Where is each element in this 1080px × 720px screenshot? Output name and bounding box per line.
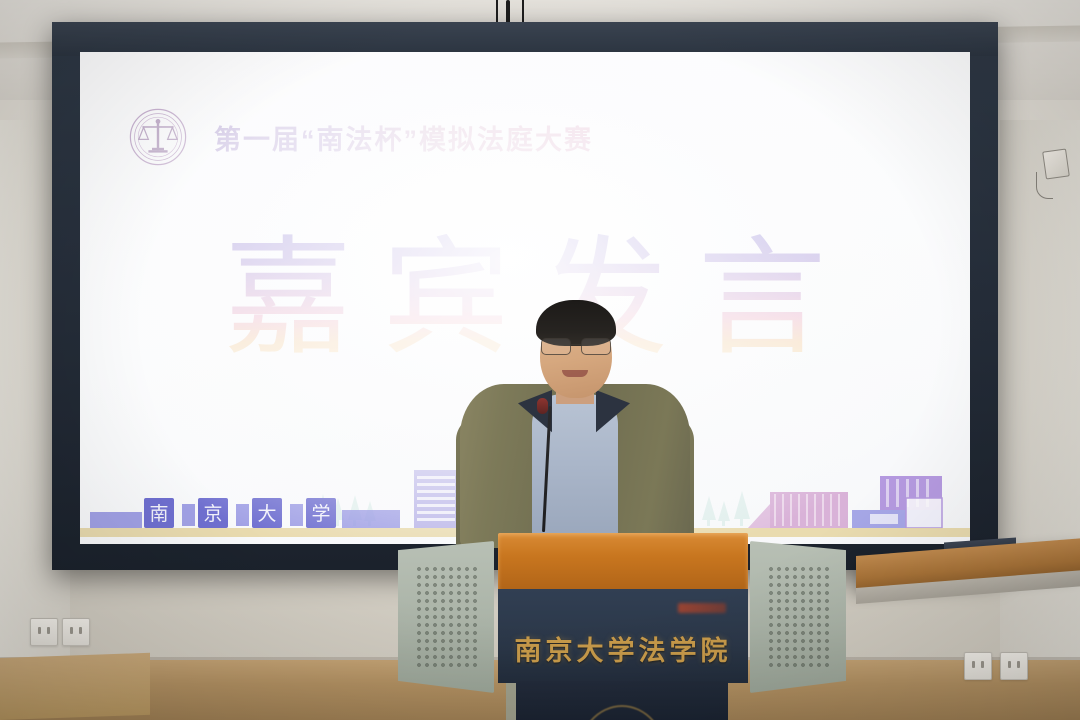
- svg-text:京: 京: [203, 503, 222, 525]
- lectern-speaker-grill-left: [415, 565, 476, 668]
- lectern-name-plate: 南京大学法学院: [498, 629, 748, 668]
- slide-header: 第一届“南法杯”模拟法庭大赛: [128, 107, 593, 167]
- sign-wall-left: [90, 512, 142, 528]
- wall-outlet-right-2[interactable]: [1000, 652, 1028, 680]
- lectern-side-panel-right: [750, 541, 846, 693]
- svg-text:南: 南: [149, 503, 168, 525]
- striped-block-building: [748, 492, 848, 528]
- lectern-red-marking: [678, 603, 726, 613]
- glasses-lens-left: [541, 338, 571, 355]
- wall-outlet-right-1[interactable]: [964, 652, 992, 680]
- wall-outlet-left-2[interactable]: [62, 618, 90, 646]
- lectern-base: [516, 681, 728, 720]
- wall-speaker-cable: [1036, 172, 1053, 199]
- slide-header-title: 第一届“南法杯”模拟法庭大赛: [214, 118, 593, 157]
- screen-frame-top: [52, 22, 998, 56]
- photo-scene: 第一届“南法杯”模拟法庭大赛 嘉宾发言: [0, 0, 1080, 720]
- floor-left-section: [0, 653, 150, 720]
- microphone-head-icon: [537, 398, 548, 414]
- library-block-building: [852, 476, 942, 528]
- wall-outlet-left-1[interactable]: [30, 618, 58, 646]
- svg-text:学: 学: [311, 503, 330, 525]
- guest-speaker: [460, 298, 690, 548]
- lectern: 南京大学法学院: [398, 527, 846, 720]
- glasses-lens-right: [581, 338, 611, 355]
- lectern-speaker-grill-right: [767, 565, 828, 668]
- lectern-top-rail: [498, 533, 748, 591]
- lectern-side-panel-left: [398, 541, 494, 693]
- svg-text:大: 大: [257, 503, 276, 525]
- sign-tiles: 南 京 大 学: [144, 498, 400, 528]
- speaker-mouth: [562, 370, 588, 377]
- lectern-front-panel: 南京大学法学院: [498, 589, 748, 683]
- tower-block-building: [414, 470, 458, 528]
- scales-of-justice-seal-icon: [128, 107, 188, 167]
- university-seal-icon: [577, 705, 667, 720]
- glasses-icon: [540, 338, 612, 354]
- glasses-bridge: [570, 344, 582, 345]
- right-wall: [1000, 120, 1080, 680]
